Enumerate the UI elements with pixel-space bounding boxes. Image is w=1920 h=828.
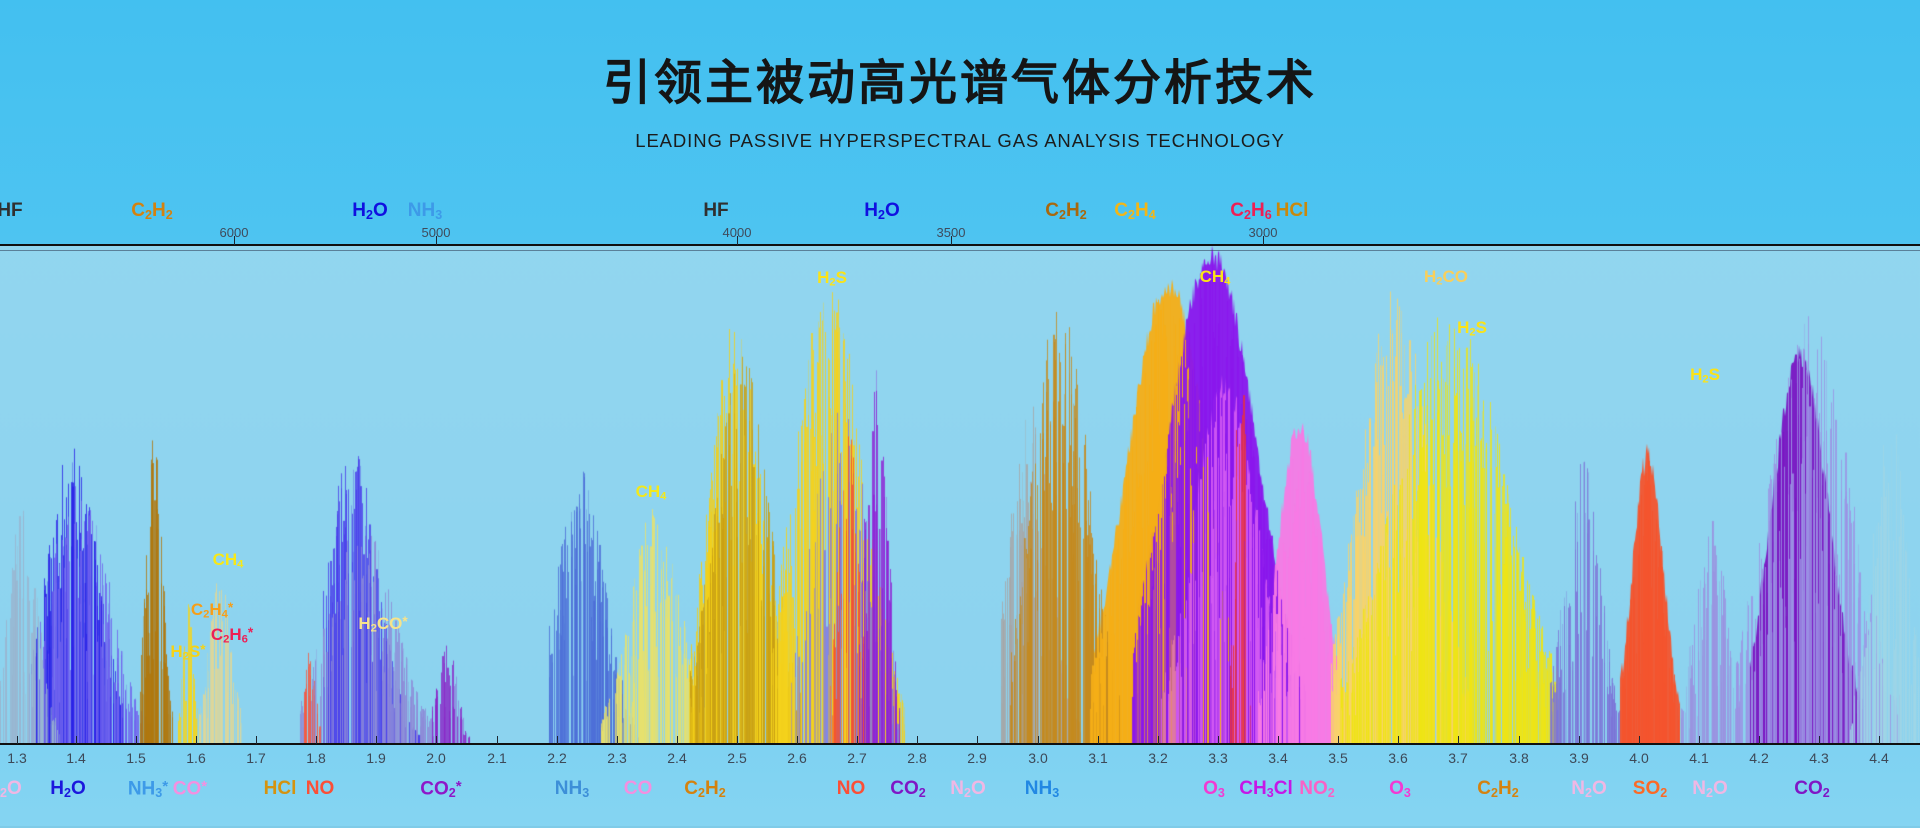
bottom-tick-label: 3.6 [1388,750,1407,766]
bottom-tick-label: 1.7 [246,750,265,766]
species-label-top-hf: HF [703,200,728,222]
bottom-tick-label: 3.7 [1448,750,1467,766]
species-label-bottom-co2: CO2 [1794,778,1829,800]
bottom-tick-mark [256,736,257,744]
bottom-tick-mark [196,736,197,744]
species-label-bottom-c2h2: C2H2 [1477,778,1518,800]
species-label-bottom-no: NO [837,778,866,800]
bottom-tick-mark [677,736,678,744]
species-label-h2co: H2CO [1424,267,1468,287]
spectrum-canvas [0,246,1920,743]
species-label-h2co: H2CO* [358,614,407,634]
bottom-tick-label: 3.2 [1148,750,1167,766]
bottom-tick-mark [1038,736,1039,744]
species-label-bottom-co: CO [624,778,653,800]
bottom-tick-mark [1879,736,1880,744]
bottom-tick-label: 2.7 [847,750,866,766]
bottom-tick-label: 2.3 [607,750,626,766]
top-tick-mark [1263,236,1264,245]
top-tick-mark [436,236,437,245]
bottom-axis-line [0,743,1920,745]
bottom-tick-label: 4.0 [1629,750,1648,766]
species-label-top-h2o: H2O [864,200,900,222]
bottom-tick-label: 3.0 [1028,750,1047,766]
top-tick-mark [737,236,738,245]
species-label-h2s: H2S* [170,642,205,662]
species-label-top-hcl: HCl [1276,200,1309,222]
bottom-tick-mark [1639,736,1640,744]
bottom-tick-mark [136,736,137,744]
bottom-tick-label: 2.6 [787,750,806,766]
bottom-tick-label: 2.2 [547,750,566,766]
species-label-bottom-o3: O3 [1389,778,1411,800]
bottom-tick-label: 1.5 [126,750,145,766]
bottom-tick-mark [1218,736,1219,744]
bottom-tick-mark [1278,736,1279,744]
species-label-bottom-n2o: N2O [1692,778,1728,800]
banner-header: 引领主被动高光谱气体分析技术 LEADING PASSIVE HYPERSPEC… [0,0,1920,152]
species-label-h2s: H2S [1457,318,1487,338]
species-label-top-c2h2: C2H2 [1045,200,1086,222]
species-label-bottom-o3: O3 [1203,778,1225,800]
species-label-bottom-no2: NO2 [1299,778,1334,800]
species-label-c2h4: C2H4* [191,600,233,620]
species-label-bottom-nh3: NH3* [128,778,168,800]
species-label-ch4: CH4 [636,482,667,502]
species-label-bottom-nh3: NH3 [555,778,589,800]
page-subtitle: LEADING PASSIVE HYPERSPECTRAL GAS ANALYS… [0,110,1920,152]
species-label-bottom-so2: SO2 [1633,778,1667,800]
bottom-tick-label: 1.3 [7,750,26,766]
bottom-tick-label: 1.6 [186,750,205,766]
bottom-tick-mark [857,736,858,744]
bottom-tick-label: 4.3 [1809,750,1828,766]
bottom-tick-label: 3.3 [1208,750,1227,766]
bottom-tick-label: 3.5 [1328,750,1347,766]
species-label-ch4: CH4 [213,550,244,570]
bottom-tick-mark [1458,736,1459,744]
bottom-tick-mark [316,736,317,744]
spectrum-chart [0,246,1920,743]
species-label-bottom-co: CO* [173,778,207,800]
bottom-tick-mark [497,736,498,744]
species-label-top-hf: HF [0,200,23,222]
bottom-tick-mark [1819,736,1820,744]
bottom-tick-mark [797,736,798,744]
hyperspectral-banner: 引领主被动高光谱气体分析技术 LEADING PASSIVE HYPERSPEC… [0,0,1920,828]
bottom-tick-label: 2.0 [426,750,445,766]
species-label-bottom-co2: CO2 [890,778,925,800]
species-label-bottom-hcl: HCl [264,778,297,800]
bottom-tick-mark [737,736,738,744]
bottom-tick-label: 4.2 [1749,750,1768,766]
species-label-top-nh3: NH3 [408,200,442,222]
bottom-tick-mark [557,736,558,744]
species-label-bottom-n2o: N2O [950,778,986,800]
species-label-bottom-c2h2: C2H2 [684,778,725,800]
bottom-tick-label: 2.1 [487,750,506,766]
species-label-bottom-ch3cl: CH3Cl [1239,778,1292,800]
top-tick-mark [951,236,952,245]
bottom-tick-label: 1.8 [306,750,325,766]
species-label-bottom-nh3: NH3 [1025,778,1059,800]
bottom-tick-mark [76,736,77,744]
bottom-tick-label: 3.9 [1569,750,1588,766]
species-label-bottom-n2o: N2O [1571,778,1607,800]
bottom-tick-mark [1759,736,1760,744]
bottom-tick-label: 4.4 [1869,750,1888,766]
bottom-tick-mark [1699,736,1700,744]
species-label-c2h6: C2H6* [211,625,253,645]
species-label-bottom-no: NO [306,778,335,800]
species-label-top-h2o: H2O [352,200,388,222]
species-label-top-c2h6: C2H6 [1230,200,1271,222]
species-label-bottom-n2o: N2O [0,778,22,800]
bottom-tick-label: 2.9 [967,750,986,766]
bottom-tick-mark [617,736,618,744]
bottom-tick-label: 1.9 [366,750,385,766]
species-label-ch4: CH4 [1200,267,1231,287]
top-axis-line [0,244,1920,246]
species-label-bottom-h2o: H2O [50,778,86,800]
bottom-tick-mark [977,736,978,744]
bottom-tick-label: 2.8 [907,750,926,766]
bottom-tick-mark [436,736,437,744]
bottom-tick-label: 2.4 [667,750,686,766]
species-label-h2s: H2S [1690,365,1720,385]
species-label-top-c2h4: C2H4 [1114,200,1155,222]
top-axis-line-thin [0,250,1920,251]
bottom-tick-mark [1579,736,1580,744]
bottom-tick-label: 3.8 [1509,750,1528,766]
bottom-tick-label: 4.1 [1689,750,1708,766]
species-label-h2s: H2S [817,268,847,288]
species-label-bottom-co2: CO2* [420,778,461,800]
species-label-top-c2h2: C2H2 [131,200,172,222]
page-title: 引领主被动高光谱气体分析技术 [0,0,1920,110]
bottom-tick-label: 3.1 [1088,750,1107,766]
bottom-tick-mark [376,736,377,744]
bottom-tick-label: 3.4 [1268,750,1287,766]
bottom-tick-label: 2.5 [727,750,746,766]
bottom-tick-mark [917,736,918,744]
bottom-tick-mark [1519,736,1520,744]
bottom-tick-mark [1338,736,1339,744]
bottom-tick-mark [17,736,18,744]
bottom-tick-mark [1098,736,1099,744]
bottom-tick-mark [1158,736,1159,744]
bottom-tick-label: 1.4 [66,750,85,766]
bottom-tick-mark [1398,736,1399,744]
top-tick-mark [234,236,235,245]
